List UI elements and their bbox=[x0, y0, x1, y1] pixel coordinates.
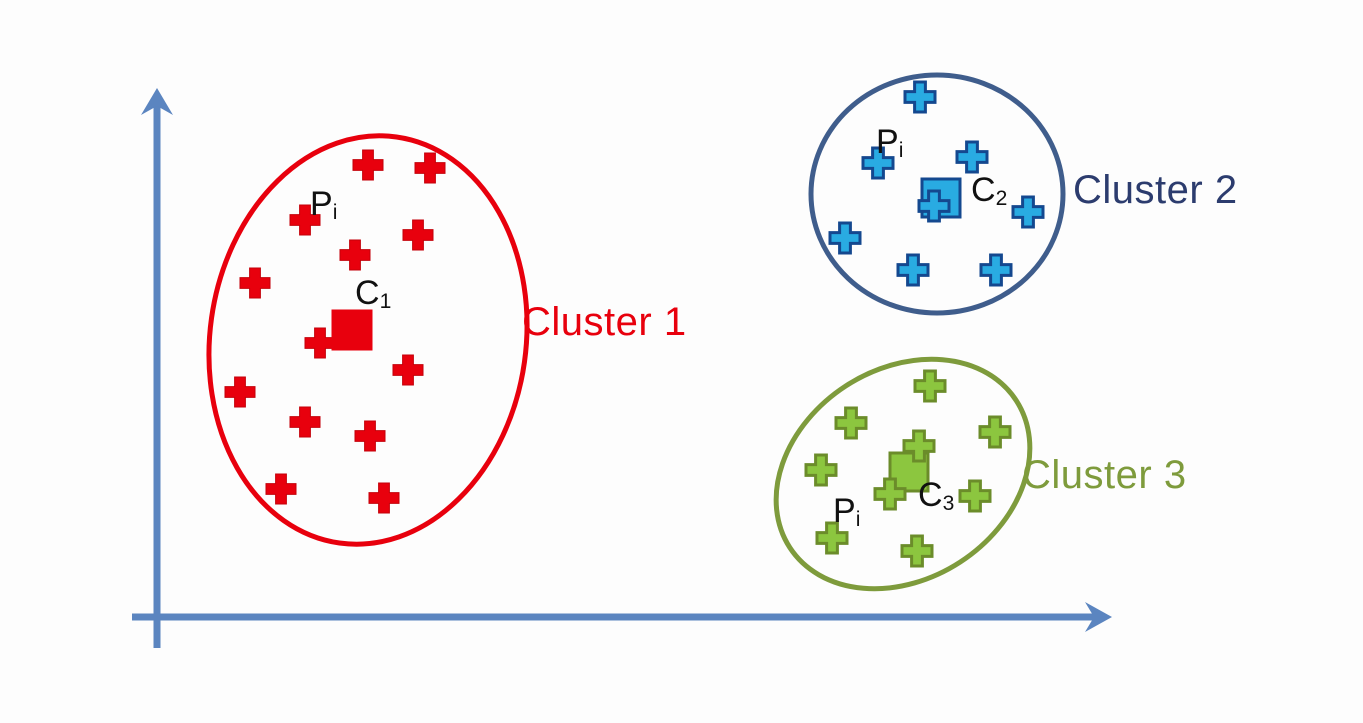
cluster-1-point-marker bbox=[415, 153, 445, 183]
cluster-1-centroid-marker bbox=[332, 310, 372, 350]
cluster-1-centroid-label-sub: 1 bbox=[380, 290, 392, 313]
cluster-1-point-marker bbox=[403, 220, 433, 250]
cluster-1-point-label: Pi bbox=[310, 185, 337, 224]
axis-group bbox=[132, 88, 1112, 648]
cluster-1-point-marker bbox=[266, 474, 296, 504]
cluster-1-label: Cluster 1 bbox=[522, 300, 687, 345]
cluster-3-point-marker bbox=[806, 455, 836, 485]
clustering-diagram-canvas: Cluster 1 Cluster 2 Cluster 3 Pi C1 Pi C… bbox=[0, 0, 1363, 723]
cluster-2-point-marker bbox=[957, 142, 987, 172]
cluster-1-point-marker bbox=[240, 268, 270, 298]
cluster-3-point-marker bbox=[980, 417, 1010, 447]
cluster-1-group bbox=[183, 115, 553, 565]
cluster-2-point-marker bbox=[898, 255, 928, 285]
cluster-2-centroid-label-base: C bbox=[971, 171, 996, 209]
cluster-2-point-label: Pi bbox=[876, 123, 903, 162]
cluster-2-point-label-sub: i bbox=[899, 139, 904, 162]
cluster-2-centroid-label: C2 bbox=[971, 171, 1007, 210]
cluster-2-point-marker bbox=[1013, 197, 1043, 227]
cluster-3-point-label-base: P bbox=[833, 492, 856, 530]
clusters-layer bbox=[183, 75, 1073, 636]
cluster-1-centroid-label-base: C bbox=[355, 274, 380, 312]
diagram-svg bbox=[0, 0, 1363, 723]
cluster-1-point-label-base: P bbox=[310, 185, 333, 223]
cluster-1-point-marker bbox=[353, 150, 383, 180]
cluster-2-group bbox=[811, 75, 1063, 313]
cluster-1-point-marker bbox=[340, 240, 370, 270]
cluster-1-point-marker bbox=[355, 421, 385, 451]
cluster-2-point-marker bbox=[830, 223, 860, 253]
cluster-3-point-marker bbox=[836, 408, 866, 438]
cluster-3-point-label-sub: i bbox=[856, 508, 861, 531]
cluster-1-point-marker bbox=[369, 483, 399, 513]
cluster-2-centroid-label-sub: 2 bbox=[996, 187, 1008, 210]
cluster-3-point-marker bbox=[960, 481, 990, 511]
cluster-3-point-marker bbox=[915, 371, 945, 401]
cluster-1-point-marker bbox=[305, 328, 335, 358]
cluster-3-centroid-label-base: C bbox=[918, 476, 943, 514]
cluster-1-point-marker bbox=[393, 355, 423, 385]
cluster-3-centroid-label: C3 bbox=[918, 476, 954, 515]
cluster-3-centroid-label-sub: 3 bbox=[943, 492, 955, 515]
cluster-2-label: Cluster 2 bbox=[1073, 168, 1238, 213]
cluster-3-point-label: Pi bbox=[833, 492, 860, 531]
cluster-3-point-marker bbox=[902, 536, 932, 566]
cluster-1-centroid-label: C1 bbox=[355, 274, 391, 313]
cluster-1-point-label-sub: i bbox=[333, 201, 338, 224]
cluster-3-label: Cluster 3 bbox=[1022, 453, 1187, 498]
cluster-2-point-marker bbox=[981, 255, 1011, 285]
cluster-1-point-marker bbox=[225, 377, 255, 407]
cluster-1-point-marker bbox=[290, 407, 320, 437]
cluster-2-point-marker bbox=[905, 82, 935, 112]
cluster-2-point-label-base: P bbox=[876, 123, 899, 161]
